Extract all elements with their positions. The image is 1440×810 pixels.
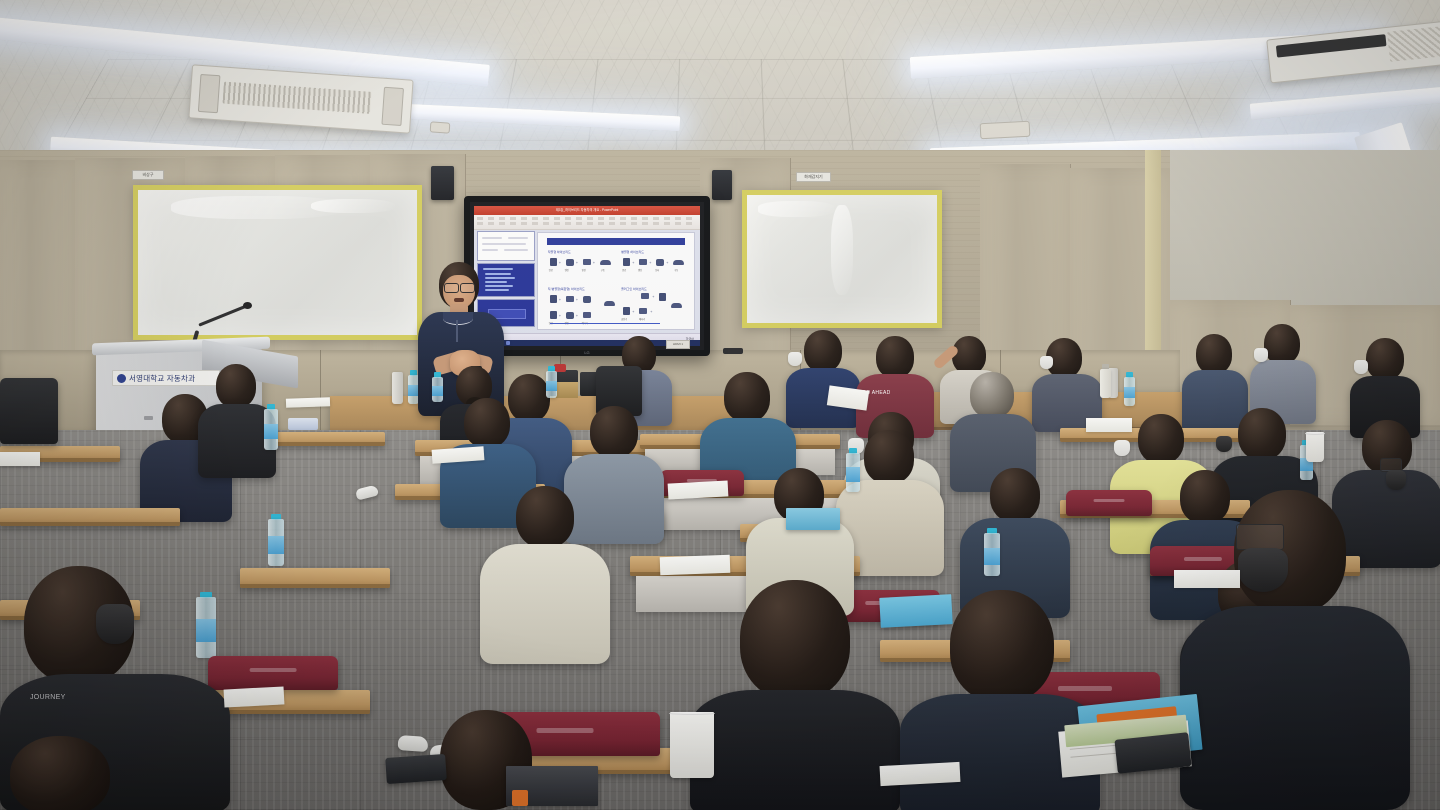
quadrant-label: 병렬형 하이브리드 [621, 250, 644, 254]
slide-quadrant: 플러그인 하이브리드 + + + 충전기 배터리 [619, 287, 688, 322]
attendee-head [1264, 324, 1300, 364]
thermos-bottle [1100, 364, 1111, 398]
handout [880, 762, 961, 786]
powerpoint-title: 제3강_하이브리드 자동차의 개요 - PowerPoint [556, 207, 619, 212]
textbook [879, 594, 952, 628]
attendee-head [590, 406, 638, 458]
water-bottle [1124, 372, 1135, 406]
attendee [690, 580, 900, 810]
handout [660, 555, 731, 575]
attendee-head [10, 736, 110, 810]
handout [1086, 418, 1132, 432]
quadrant-label: 직렬형 하이브리드 [548, 250, 571, 254]
attendee-head [950, 590, 1054, 702]
ceiling-projector-mount [980, 121, 1031, 140]
attendee-head [864, 430, 914, 484]
attendee [480, 486, 610, 656]
attendee [960, 468, 1070, 608]
tissue-box [288, 418, 318, 430]
water-bottle [268, 514, 284, 566]
notebook-tab [512, 790, 528, 806]
powerpoint-ribbon[interactable] [474, 215, 700, 230]
presenter-collar [443, 312, 473, 325]
right-whiteboard [742, 190, 942, 328]
attendee-head [1196, 334, 1232, 374]
university-emblem-icon [117, 374, 126, 383]
wall-speaker [431, 166, 454, 200]
chair[interactable] [1066, 490, 1152, 516]
water-bottle [264, 404, 278, 450]
lecture-hall-photo: 비상구 화재감지기 제3강_하이브리드 자동차의 개요 - PowerPoint [0, 0, 1440, 810]
eyeglasses [1236, 524, 1284, 550]
attendee-head [1366, 338, 1404, 380]
smartphone [385, 754, 447, 784]
attendee [1250, 324, 1316, 418]
podium-sign-text: 서영대학교 자동차과 [129, 373, 195, 384]
slide-footnote-rule [550, 323, 659, 324]
quadrant-label: 플러그인 하이브리드 [621, 287, 647, 291]
handout [0, 452, 40, 466]
attendee-head [970, 372, 1014, 418]
presenter-placket [456, 320, 458, 342]
slide-title-bar [547, 238, 684, 246]
backpack [0, 378, 58, 444]
textbook [786, 508, 840, 530]
display-brand-label: LG [584, 350, 589, 355]
attendee [950, 372, 1036, 482]
wall-speaker [712, 170, 732, 200]
cabinet-seam [320, 350, 321, 430]
left-whiteboard [133, 185, 422, 340]
face-mask [1040, 356, 1053, 369]
paper-cup [1306, 432, 1324, 462]
attendee-head [876, 336, 914, 378]
handout [224, 686, 285, 707]
attendee-head [216, 364, 256, 408]
attendee-head [1238, 408, 1286, 460]
wall-sign-label: 화재감지기 [804, 174, 822, 179]
attendee-head [952, 336, 986, 374]
handout [1174, 570, 1240, 588]
attendee [1032, 338, 1102, 424]
attendee-torso [480, 544, 610, 664]
handout [668, 480, 729, 499]
shirt-print: JOURNEY [30, 694, 66, 701]
presenter-glasses [444, 283, 459, 293]
thermos-bottle [392, 372, 403, 404]
presenter-glasses [460, 283, 475, 293]
quadrant-label: 직·병렬형(복합형) 하이브리드 [548, 287, 585, 291]
attendee-head [1138, 414, 1184, 464]
ceiling-sensor [430, 121, 451, 133]
desk [240, 568, 390, 588]
paper-stack [286, 397, 330, 408]
face-mask [1386, 470, 1406, 490]
presenter-mouth [454, 298, 464, 302]
slide-quadrant: 병렬형 하이브리드 + + + 연료 엔진 모터 구동 [619, 250, 688, 285]
attendee-head [516, 486, 574, 548]
paper-cup [670, 712, 714, 778]
wall-sign: 비상구 [132, 170, 164, 180]
wall-sign: 화재감지기 [796, 172, 831, 182]
face-mask [1254, 348, 1268, 362]
powerpoint-titlebar: 제3강_하이브리드 자동차의 개요 - PowerPoint [474, 206, 700, 215]
attendee-torso [690, 690, 900, 810]
attendee-head [804, 330, 842, 372]
slide-quadrant: 직렬형 하이브리드 + + + 연료 엔진 발전 구동 [546, 250, 615, 285]
current-slide: 직렬형 하이브리드 + + + 연료 엔진 발전 구동 병렬형 하이브리드 + … [537, 232, 695, 330]
attendee-head [740, 580, 850, 700]
face-mask [1354, 360, 1368, 374]
attendee-head [990, 468, 1040, 522]
desk [0, 508, 180, 526]
face-mask [1238, 548, 1288, 592]
water-bottle [546, 366, 557, 398]
face-mask [788, 352, 802, 366]
water-bottle [984, 528, 1000, 576]
face-mask [96, 604, 134, 644]
attendee [1180, 490, 1410, 810]
face-mask [1114, 440, 1130, 456]
attendee [1350, 338, 1420, 430]
attendee-torso [1180, 606, 1410, 810]
attendee-head [464, 398, 510, 448]
attendee-head [724, 372, 770, 422]
wall-sign-label: 비상구 [142, 172, 153, 177]
attendee [0, 736, 150, 810]
slide-quadrant: 직·병렬형(복합형) 하이브리드 + + + + 연료 엔진 배터리 [546, 287, 615, 322]
face-mask [1216, 436, 1232, 452]
remote-control[interactable] [723, 348, 743, 354]
slide-thumbnail[interactable] [477, 231, 535, 261]
